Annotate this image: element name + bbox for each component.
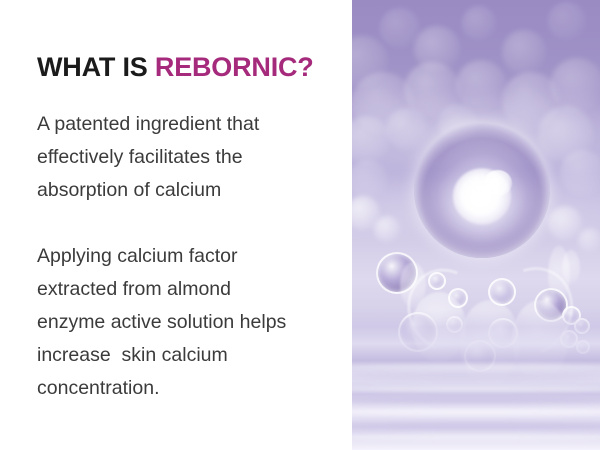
page-title: WHAT IS REBORNIC? (37, 53, 314, 81)
bubble-water-splash-image (352, 0, 600, 450)
water-ripple (352, 410, 600, 416)
water-ripple (352, 398, 600, 404)
paragraph-two: Applying calcium factor extracted from a… (37, 240, 286, 405)
bokeh-circle (502, 30, 546, 74)
image-bokeh-layer (352, 0, 600, 450)
bokeh-circle (374, 216, 400, 242)
water-ripple (352, 422, 600, 428)
paragraph-one: A patented ingredient that effectively f… (37, 108, 259, 207)
headline-dark-text: WHAT IS (37, 52, 155, 82)
large-bubble (414, 122, 550, 258)
bubble-highlight (484, 170, 512, 196)
slide-root: WHAT IS REBORNIC? A patented ingredient … (0, 0, 600, 450)
bokeh-circle (462, 6, 496, 40)
water-ripple (352, 434, 600, 440)
text-panel: WHAT IS REBORNIC? A patented ingredient … (0, 0, 352, 450)
bokeh-circle (548, 206, 582, 240)
headline-accent-text: REBORNIC? (155, 52, 314, 82)
water-ripple (352, 364, 600, 370)
bokeh-circle (548, 2, 586, 40)
water-splash (562, 250, 580, 284)
water-ripple (352, 374, 600, 380)
water-surface (352, 310, 600, 450)
bokeh-circle (578, 228, 600, 252)
water-ripple (352, 386, 600, 392)
